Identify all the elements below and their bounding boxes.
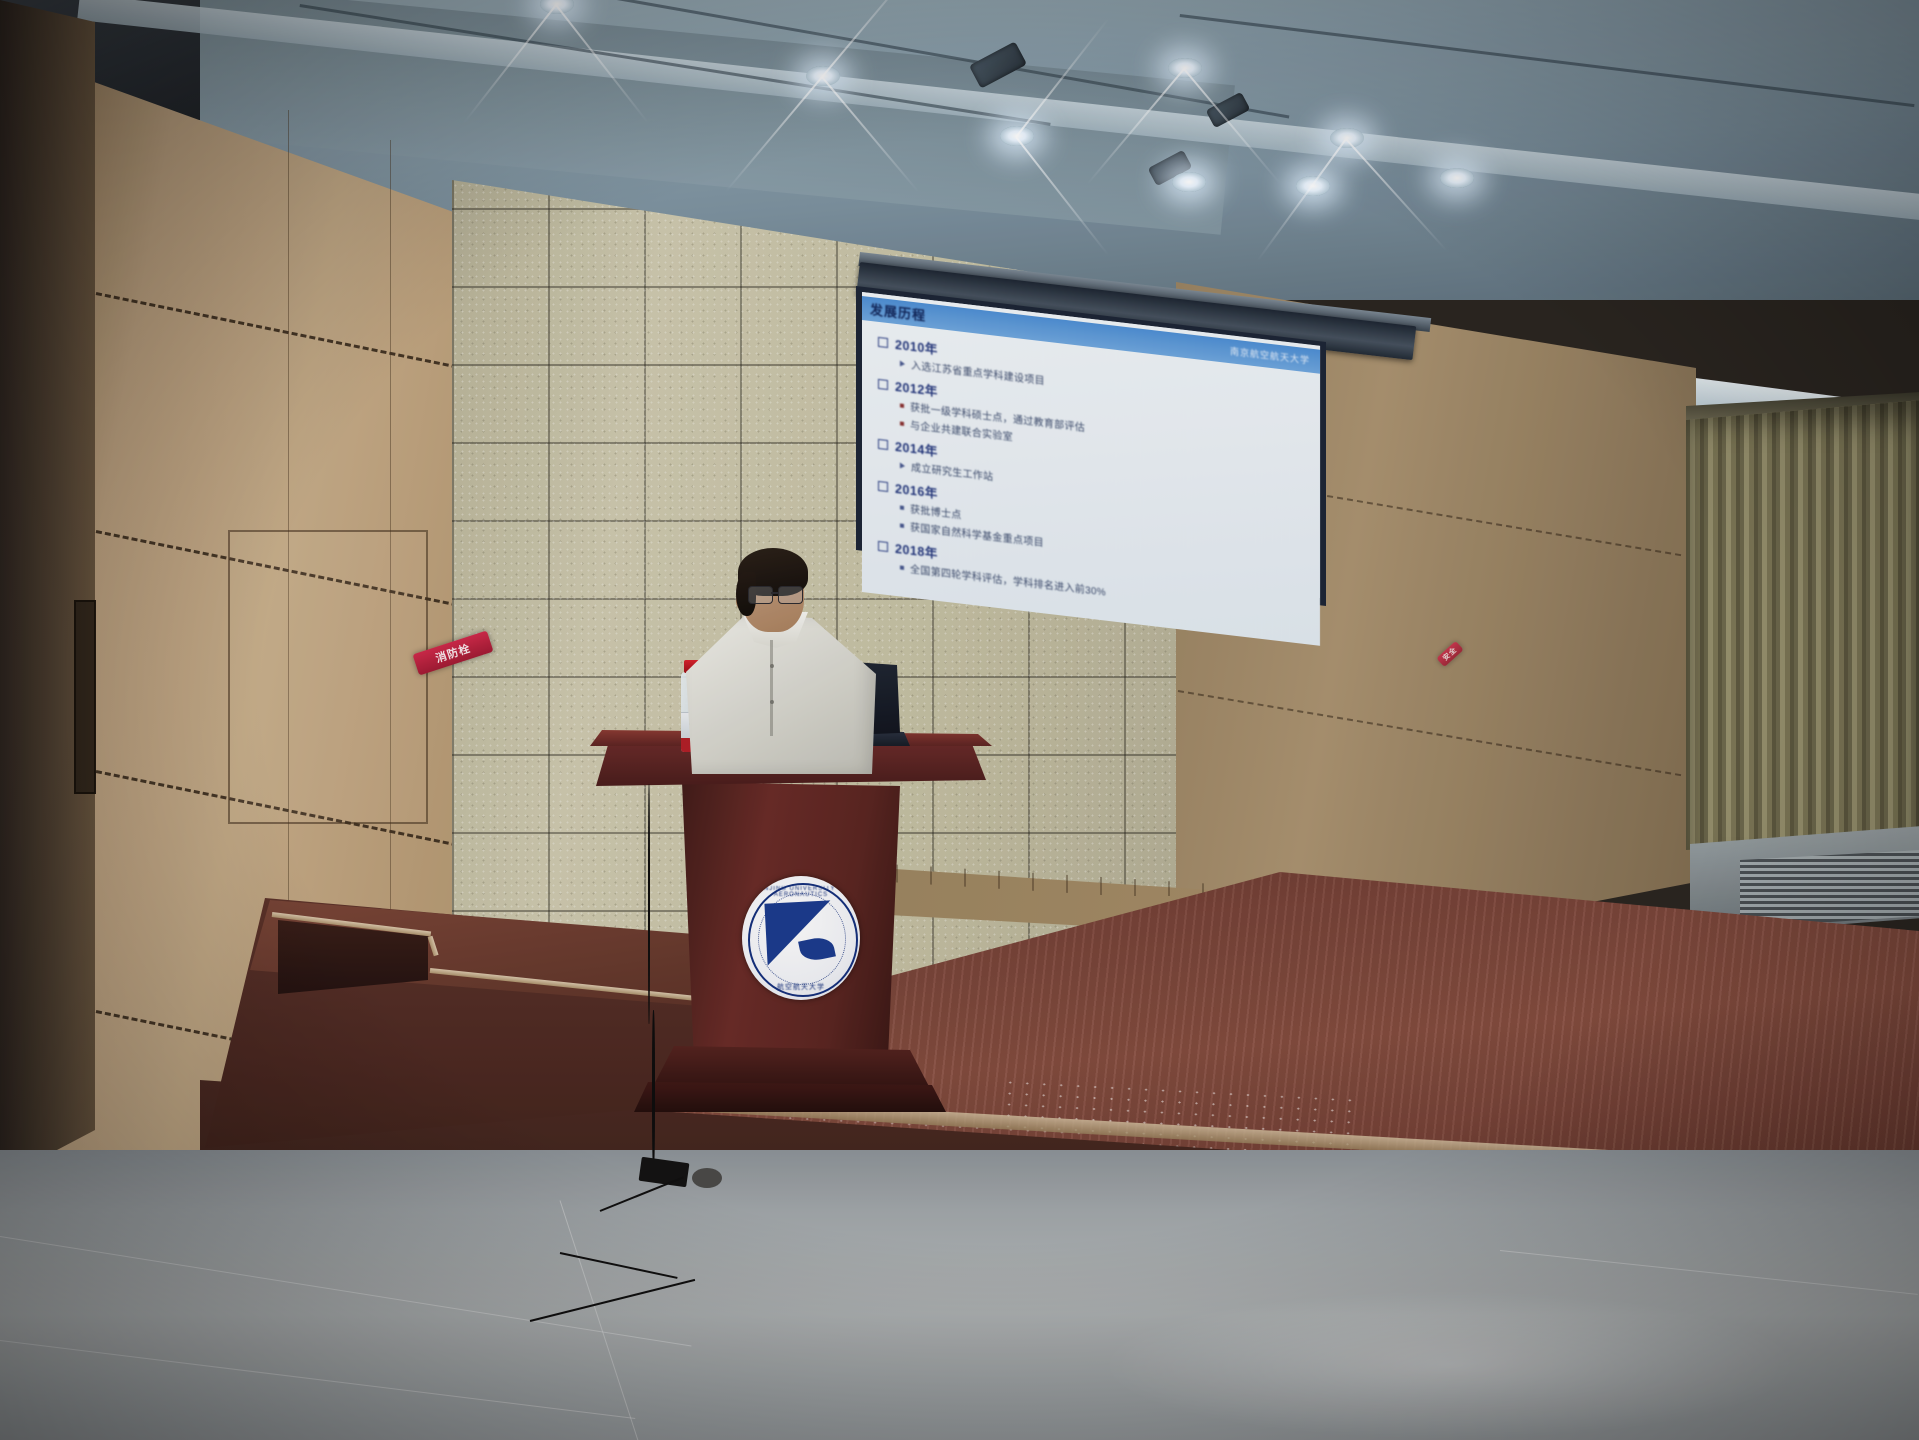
triangle-bullet-icon [900, 462, 905, 469]
shirt-button [770, 700, 774, 704]
radiator-grille [1740, 850, 1919, 928]
podium-plinth [634, 1082, 946, 1112]
square-bullet-icon [900, 421, 904, 425]
square-bullet-icon [900, 505, 904, 509]
emblem-bottom-text: 航空航天大学 [742, 982, 860, 992]
speaker-glasses [748, 586, 806, 603]
floor-sheen [1100, 1290, 1800, 1440]
podium-cable [652, 1010, 655, 1170]
podium-cable [648, 784, 650, 1024]
shirt-button [770, 664, 774, 668]
university-emblem: NANJING UNIVERSITY OF AERONAUTICS 航空航天大学 [742, 876, 860, 1000]
wall-door-outline [74, 600, 96, 794]
emblem-top-text: NANJING UNIVERSITY OF AERONAUTICS [742, 886, 860, 898]
checkbox-icon [878, 540, 888, 551]
cable-connector-box [692, 1168, 722, 1188]
slide-body: 2010年 入选江苏省重点学科建设项目 2012年 获批一级学科硕士点，通过教育… [872, 325, 1312, 626]
glasses-bridge [771, 592, 778, 594]
slide-year-label: 2016年 [895, 478, 938, 502]
light-ray [1257, 138, 1347, 261]
wall-door-outline [228, 530, 428, 824]
checkbox-icon [878, 438, 888, 449]
lecture-hall-photo: 消防栓 安全 发展历程 南京航空航天大学 2010年 入选江苏省重点学科建设项目 [0, 0, 1919, 1440]
square-bullet-icon [900, 403, 904, 407]
checkbox-icon [878, 480, 888, 491]
speaker-shirt-placket [770, 640, 773, 736]
checkbox-icon [878, 336, 888, 347]
slide-year-label: 2010年 [895, 334, 938, 358]
slide-year-label: 2014年 [895, 436, 938, 460]
checkbox-icon [878, 378, 888, 389]
glasses-right-lens [778, 586, 803, 604]
square-bullet-icon [900, 523, 904, 527]
stage-curtain [1686, 400, 1919, 850]
ceiling-slat [1180, 14, 1915, 107]
slide-year-label: 2012年 [895, 376, 938, 400]
ceiling-downlight [1440, 168, 1474, 188]
left-wall-shadow-column [0, 0, 95, 1180]
slide-year-label: 2018年 [895, 538, 938, 562]
square-bullet-icon [900, 565, 904, 569]
ceiling-downlight [1172, 172, 1206, 192]
projected-slide: 发展历程 南京航空航天大学 2010年 入选江苏省重点学科建设项目 2012年 … [862, 292, 1320, 656]
glasses-left-lens [748, 586, 773, 604]
triangle-bullet-icon [900, 360, 905, 367]
